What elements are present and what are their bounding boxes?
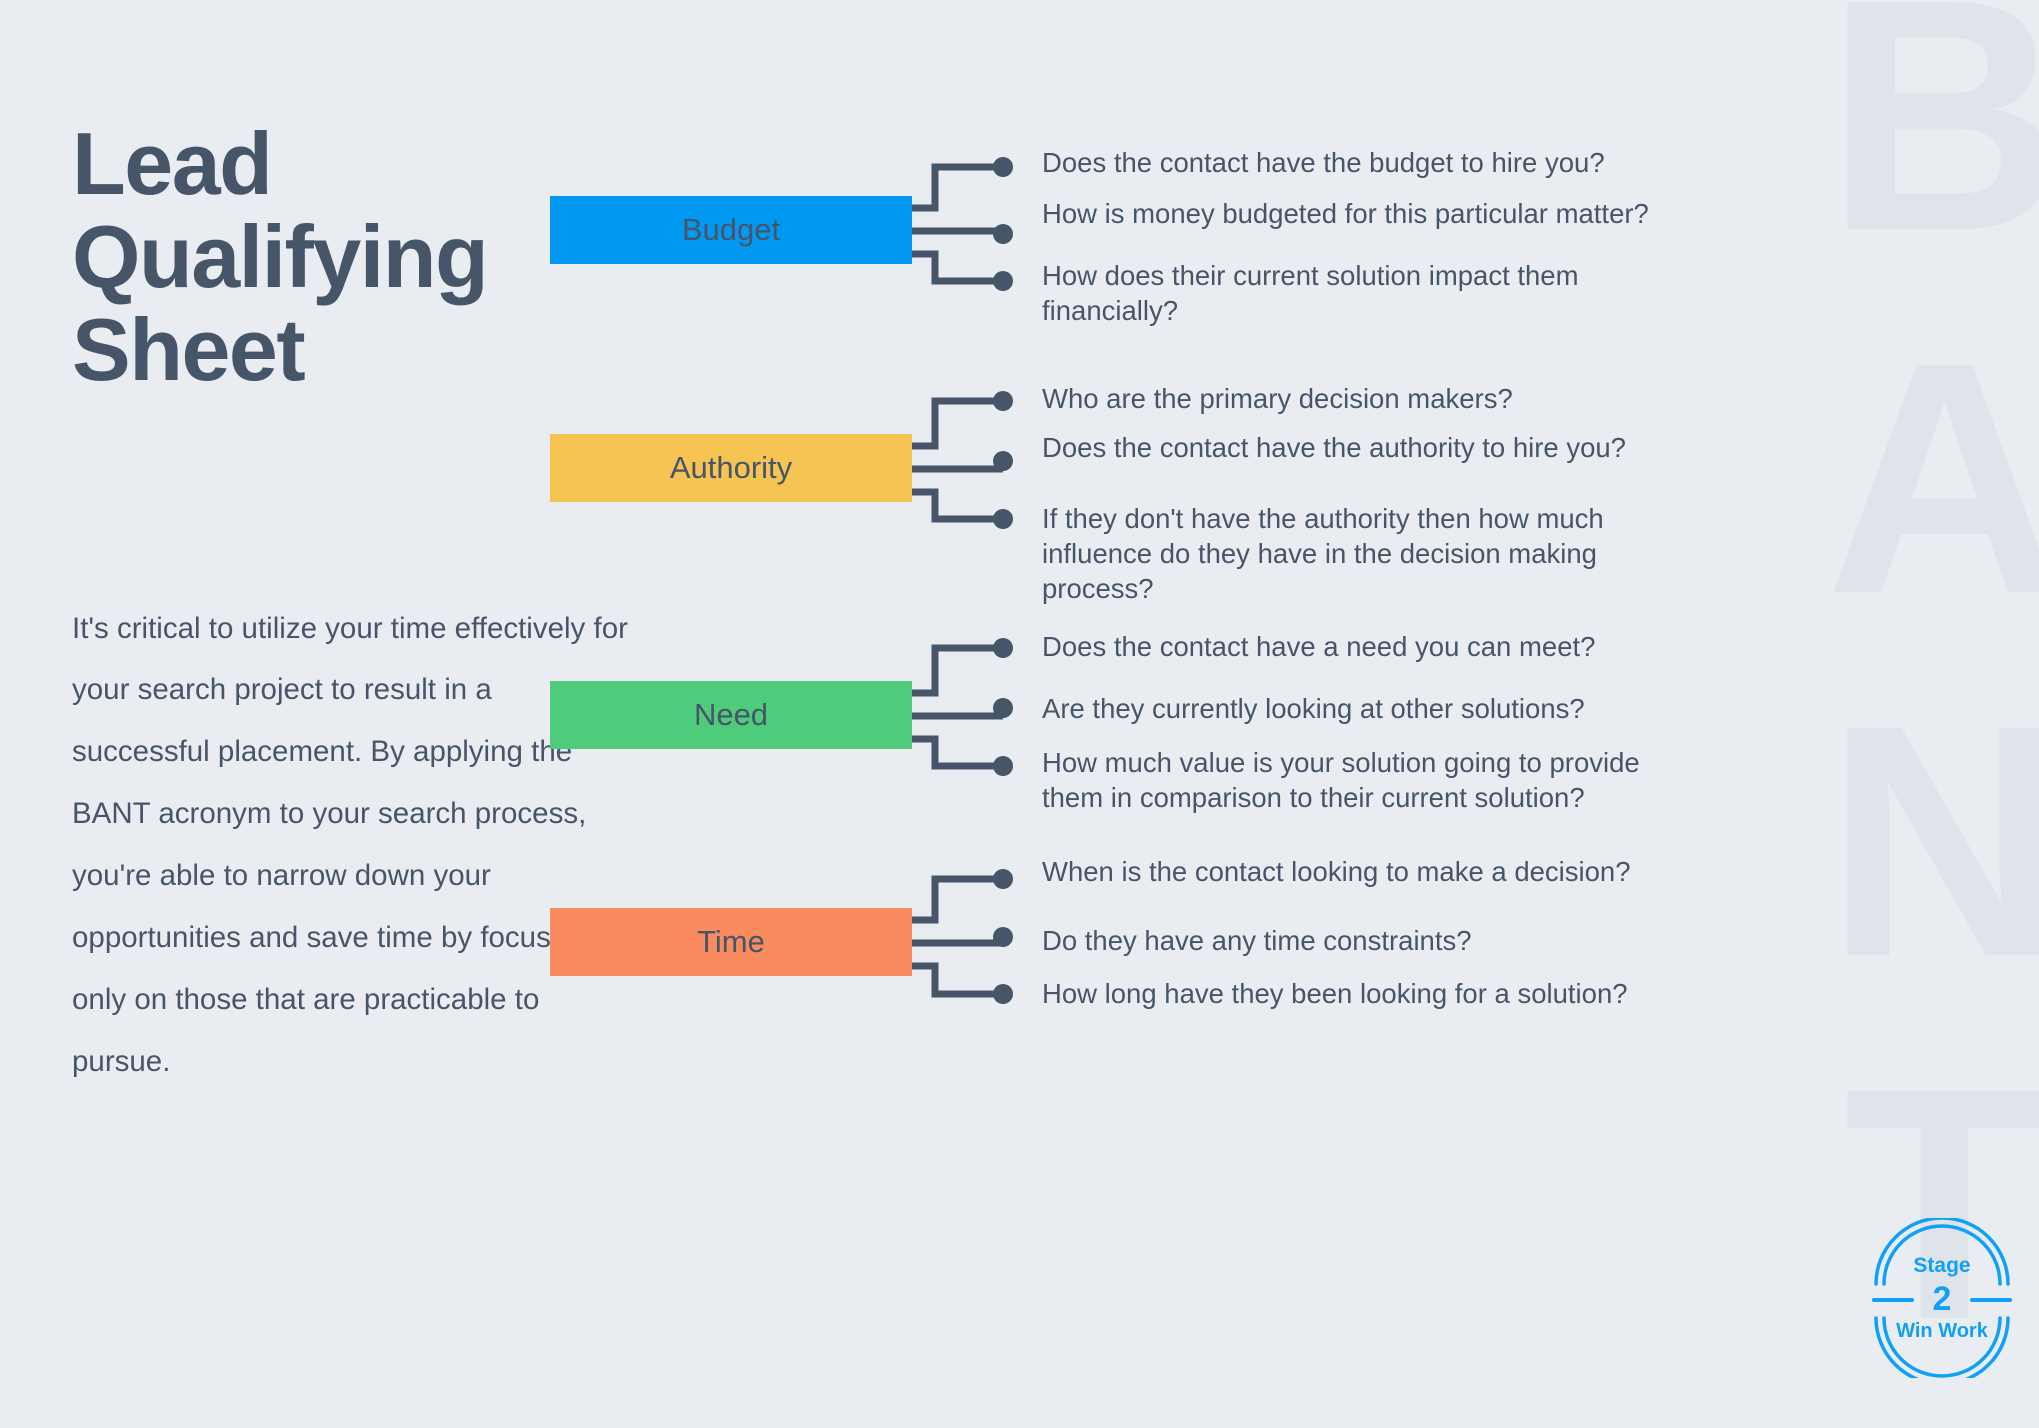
badge-number: 2 [1933,1282,1952,1316]
category-box-budget[interactable]: Budget [550,196,912,264]
question-text: Are they currently looking at other solu… [1042,692,1682,727]
question-text: When is the contact looking to make a de… [1042,855,1682,890]
question-text: If they don't have the authority then ho… [1042,502,1682,607]
category-box-authority[interactable]: Authority [550,434,912,502]
page-title: Lead Qualifying Sheet [72,117,632,397]
category-box-need[interactable]: Need [550,681,912,749]
category-label: Budget [682,212,780,248]
badge-stage-label: Stage [1913,1255,1970,1276]
question-text: Does the contact have a need you can mee… [1042,630,1682,665]
question-text: Does the contact have the authority to h… [1042,431,1682,466]
question-text: How much value is your solution going to… [1042,746,1682,816]
question-text: Does the contact have the budget to hire… [1042,146,1682,181]
badge-name: Win Work [1896,1321,1988,1341]
stage-badge: Stage 2 Win Work [1862,1218,2022,1378]
question-text: Do they have any time constraints? [1042,924,1682,959]
question-text: How does their current solution impact t… [1042,259,1682,329]
category-label: Authority [670,450,792,486]
question-text: How long have they been looking for a so… [1042,977,1682,1012]
question-text: Who are the primary decision makers? [1042,382,1682,417]
category-label: Time [697,924,765,960]
category-label: Need [694,697,768,733]
intro-paragraph: It's critical to utilize your time effec… [72,598,632,1094]
category-box-time[interactable]: Time [550,908,912,976]
question-text: How is money budgeted for this particula… [1042,197,1682,232]
